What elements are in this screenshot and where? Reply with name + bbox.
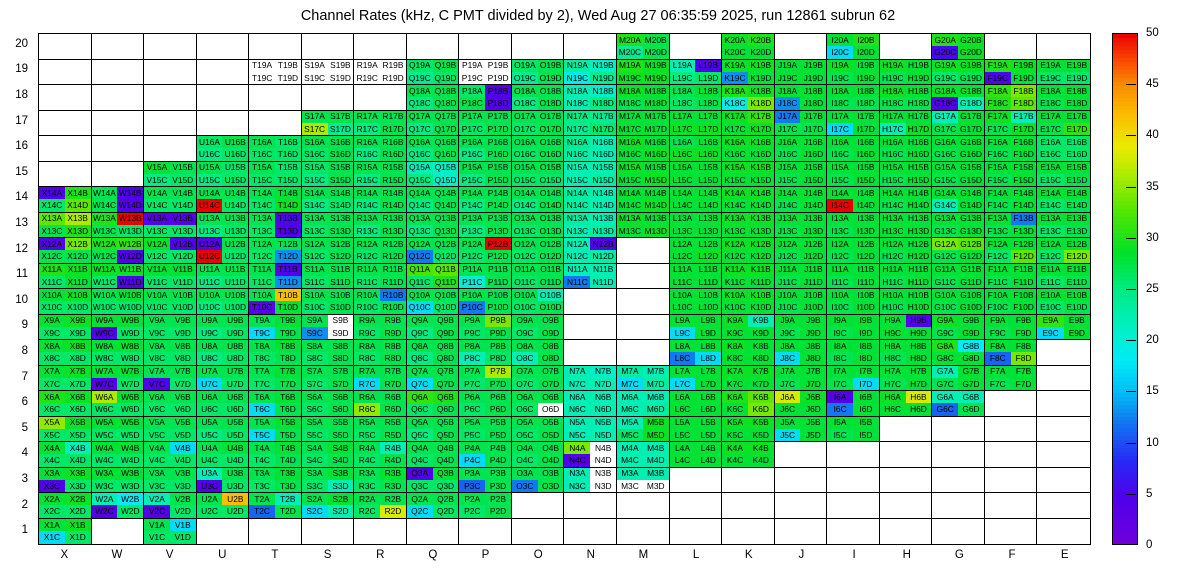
channel-cell: X6D (65, 403, 91, 415)
channel-cell: X1B (65, 519, 91, 532)
channel-cell: N19B (590, 60, 616, 72)
grid-cell: X4AX4BX4CX4D (39, 442, 92, 468)
grid-cell (617, 493, 670, 519)
channel-cell: L19D (695, 72, 721, 84)
channel-cell-empty (643, 315, 669, 327)
channel-cell-empty (1011, 505, 1037, 517)
channel-cell: L15B (695, 162, 721, 174)
channel-cell: O19A (512, 60, 538, 72)
channel-cell-empty (1037, 519, 1063, 532)
channel-cell: K8C (722, 352, 748, 364)
channel-cell-empty (1011, 442, 1037, 454)
grid-cell: E14AE14BE14CE14D (1037, 187, 1090, 213)
channel-cell: G9B (958, 315, 984, 327)
grid-cell (39, 60, 92, 86)
channel-cell: N12D (590, 250, 616, 262)
channel-cell: R5A (354, 417, 380, 429)
channel-cell-empty (1011, 46, 1037, 58)
channel-cell: L12B (695, 238, 721, 250)
channel-cell-empty (906, 34, 932, 46)
channel-cell: Q7A (407, 366, 433, 378)
channel-cell: Q7D (433, 378, 459, 390)
channel-cell-empty (538, 505, 564, 517)
channel-cell: N4B (590, 442, 616, 454)
channel-cell: J8C (775, 352, 801, 364)
channel-cell: K11B (748, 264, 774, 276)
channel-cell: F15A (985, 162, 1011, 174)
channel-cell: G16A (932, 136, 958, 148)
channel-cell-empty (827, 442, 853, 454)
grid-cell (722, 493, 775, 519)
channel-cell: O13B (538, 213, 564, 225)
channel-cell: L5A (670, 417, 696, 429)
grid-cell: T10AT10BT10CT10D (249, 289, 302, 315)
x-axis-label: V (143, 549, 196, 567)
channel-cell: V1D (170, 531, 196, 544)
channel-cell-empty (1037, 468, 1063, 480)
x-axis-label: F (986, 549, 1039, 567)
channel-cell-empty (65, 123, 91, 135)
channel-cell: N7D (590, 378, 616, 390)
channel-cell: U10A (197, 289, 223, 301)
channel-cell-empty (827, 480, 853, 492)
channel-cell: U10B (222, 289, 248, 301)
channel-cell: K18D (748, 97, 774, 109)
channel-cell: T13D (275, 225, 301, 237)
grid-cell: K20AK20BK20CK20D (722, 34, 775, 60)
grid-cell (932, 468, 985, 494)
channel-cell: O18D (538, 97, 564, 109)
channel-cell-empty (643, 264, 669, 276)
channel-cell: T2A (249, 493, 275, 505)
channel-cell: I16D (853, 148, 879, 160)
channel-cell: U2A (197, 493, 223, 505)
channel-cell: L5B (695, 417, 721, 429)
channel-cell: H7D (906, 378, 932, 390)
channel-cell: T7C (249, 378, 275, 390)
channel-cell: S14D (328, 199, 354, 211)
channel-cell: L4C (670, 454, 696, 466)
channel-cell: R12B (380, 238, 406, 250)
grid-cell: E17AE17BE17CE17D (1037, 111, 1090, 137)
colorbar-tick-label: 45 (1146, 78, 1159, 90)
grid-cell: P15AP15BP15CP15D (459, 162, 512, 188)
channel-cell: Q18D (433, 97, 459, 109)
channel-cell: U4D (222, 454, 248, 466)
channel-cell-empty (643, 519, 669, 532)
channel-cell: T5A (249, 417, 275, 429)
grid-cell: U10AU10BU10CU10D (197, 289, 250, 315)
channel-cell-empty (302, 519, 328, 532)
grid-cell: Q17AQ17BQ17CQ17D (407, 111, 460, 137)
grid-cell (932, 493, 985, 519)
channel-cell: O6B (538, 391, 564, 403)
grid-cell: R6AR6BR6CR6D (354, 391, 407, 417)
channel-cell: Q11C (407, 276, 433, 288)
channel-cell-empty (512, 531, 538, 544)
channel-cell: P2C (459, 505, 485, 517)
channel-cell: U2B (222, 493, 248, 505)
grid-cell: T4AT4BT4CT4D (249, 442, 302, 468)
channel-cell-empty (985, 531, 1011, 544)
channel-cell: I12B (853, 238, 879, 250)
channel-cell: J10D (800, 301, 826, 313)
channel-cell-empty (1064, 480, 1090, 492)
grid-cell: H8AH8BH8CH8D (880, 340, 933, 366)
channel-cell-empty (617, 315, 643, 327)
channel-cell: R17B (380, 111, 406, 123)
grid-cell (407, 34, 460, 60)
channel-cell: M17A (617, 111, 643, 123)
colorbar-tick-label: 10 (1146, 437, 1159, 449)
grid-cell: X14AX14BX14CX14D (39, 187, 92, 213)
grid-cell (302, 519, 355, 545)
channel-cell-empty (354, 46, 380, 58)
channel-cell-empty (512, 46, 538, 58)
grid-cell: T3AT3BT3CT3D (249, 468, 302, 494)
channel-cell: H8D (906, 352, 932, 364)
channel-cell-empty (643, 250, 669, 262)
channel-cell: Q11A (407, 264, 433, 276)
channel-cell-empty (39, 148, 65, 160)
grid-cell: N15AN15BN15CN15D (564, 162, 617, 188)
channel-cell: P4C (459, 454, 485, 466)
grid-cell: I9AI9BI9CI9D (827, 315, 880, 341)
channel-cell-empty (485, 519, 511, 532)
channel-cell-empty (564, 340, 590, 352)
channel-cell: Q18A (407, 85, 433, 97)
channel-cell: V7C (144, 378, 170, 390)
grid-cell: K9AK9BK9CK9D (722, 315, 775, 341)
grid-cell: V9AV9BV9CV9D (144, 315, 197, 341)
channel-cell: F19B (1011, 60, 1037, 72)
channel-cell-empty (92, 174, 118, 186)
channel-cell: M4A (617, 442, 643, 454)
channel-cell: T13A (249, 213, 275, 225)
channel-cell: U9D (222, 327, 248, 339)
channel-cell: Q19D (433, 72, 459, 84)
channel-cell-empty (65, 97, 91, 109)
channel-cell: S7D (328, 378, 354, 390)
channel-cell: N17D (590, 123, 616, 135)
channel-cell: T4A (249, 442, 275, 454)
channel-cell: V13D (170, 225, 196, 237)
grid-cell: W3AW3BW3CW3D (92, 468, 145, 494)
channel-cell: K12A (722, 238, 748, 250)
channel-cell-empty (985, 480, 1011, 492)
grid-cell: J8AJ8BJ8CJ8D (775, 340, 828, 366)
grid-cell: R5AR5BR5CR5D (354, 417, 407, 443)
channel-cell: R14A (354, 187, 380, 199)
channel-cell: L18C (670, 97, 696, 109)
channel-cell: V8C (144, 352, 170, 364)
channel-cell: H6D (906, 403, 932, 415)
grid-cell: F19AF19BF19CF19D (985, 60, 1038, 86)
heatmap-plot-area: M20AM20BM20CM20DK20AK20BK20CK20DI20AI20B… (38, 33, 1091, 545)
channel-cell: G11B (958, 264, 984, 276)
channel-cell: S19C (302, 72, 328, 84)
channel-cell: H19A (880, 60, 906, 72)
channel-cell-empty (800, 34, 826, 46)
channel-cell: H14B (906, 187, 932, 199)
channel-cell-empty (222, 97, 248, 109)
channel-cell: O16B (538, 136, 564, 148)
channel-cell: W4A (92, 442, 118, 454)
channel-cell: K14A (722, 187, 748, 199)
channel-cell: M16D (643, 148, 669, 160)
channel-cell: I19B (853, 60, 879, 72)
channel-cell-empty (275, 34, 301, 46)
channel-cell: E16C (1037, 148, 1063, 160)
channel-cell-empty (117, 34, 143, 46)
channel-cell: W11A (92, 264, 118, 276)
channel-cell-empty (275, 123, 301, 135)
channel-cell: G10B (958, 289, 984, 301)
channel-cell: Q14C (407, 199, 433, 211)
channel-cell: O12A (512, 238, 538, 250)
channel-cell-empty (958, 480, 984, 492)
channel-cell-empty (302, 531, 328, 544)
channel-cell: L13C (670, 225, 696, 237)
channel-cell: T2D (275, 505, 301, 517)
channel-cell: N16C (564, 148, 590, 160)
channel-cell-empty (564, 315, 590, 327)
channel-cell: V9C (144, 327, 170, 339)
channel-cell: N4A (564, 442, 590, 454)
channel-cell: U7D (222, 378, 248, 390)
channel-cell: F18C (985, 97, 1011, 109)
channel-cell: U13A (197, 213, 223, 225)
channel-cell: F14D (1011, 199, 1037, 211)
channel-cell: P3B (485, 468, 511, 480)
channel-cell: L14A (670, 187, 696, 199)
channel-cell: L17A (670, 111, 696, 123)
grid-cell (775, 34, 828, 60)
x-axis-label: T (249, 549, 302, 567)
channel-cell: Q2C (407, 505, 433, 517)
channel-cell-empty (380, 85, 406, 97)
channel-cell-empty (1011, 429, 1037, 441)
channel-cell: U3A (197, 468, 223, 480)
grid-cell: J12AJ12BJ12CJ12D (775, 238, 828, 264)
y-axis-label: 9 (2, 319, 28, 331)
channel-cell-empty (800, 454, 826, 466)
grid-cell (92, 34, 145, 60)
channel-cell-empty (564, 289, 590, 301)
channel-cell-empty (1064, 531, 1090, 544)
channel-cell-empty (985, 505, 1011, 517)
channel-cell: H13B (906, 213, 932, 225)
grid-cell: Q8AQ8BQ8CQ8D (407, 340, 460, 366)
channel-cell: T8B (275, 340, 301, 352)
channel-cell: H17A (880, 111, 906, 123)
channel-cell: O10C (512, 301, 538, 313)
channel-cell-empty (1037, 531, 1063, 544)
channel-cell: I5C (827, 429, 853, 441)
channel-cell: L5C (670, 429, 696, 441)
channel-cell: W12C (92, 250, 118, 262)
channel-cell-empty (880, 493, 906, 505)
channel-cell: R2C (354, 505, 380, 517)
channel-cell: H14A (880, 187, 906, 199)
channel-cell: I20D (853, 46, 879, 58)
grid-cell: Q13AQ13BQ13CQ13D (407, 213, 460, 239)
channel-cell: O8A (512, 340, 538, 352)
channel-cell-empty (985, 468, 1011, 480)
channel-cell-empty (39, 123, 65, 135)
grid-cell (407, 519, 460, 545)
channel-cell-empty (117, 85, 143, 97)
grid-cell: V4AV4BV4CV4D (144, 442, 197, 468)
channel-cell: N18B (590, 85, 616, 97)
channel-cell: N7A (564, 366, 590, 378)
grid-cell: P12AP12BP12CP12D (459, 238, 512, 264)
channel-cell: Q13B (433, 213, 459, 225)
channel-cell-empty (906, 468, 932, 480)
channel-cell-empty (958, 442, 984, 454)
grid-cell: R11AR11BR11CR11D (354, 264, 407, 290)
channel-cell-empty (407, 46, 433, 58)
channel-cell-empty (775, 493, 801, 505)
channel-cell: I7A (827, 366, 853, 378)
grid-cell: V8AV8BV8CV8D (144, 340, 197, 366)
channel-cell-empty (695, 531, 721, 544)
channel-cell: H12D (906, 250, 932, 262)
channel-cell: H16A (880, 136, 906, 148)
channel-cell: V4B (170, 442, 196, 454)
channel-cell-empty (695, 46, 721, 58)
channel-cell: V4C (144, 454, 170, 466)
channel-cell: E17D (1064, 123, 1090, 135)
channel-cell: K10B (748, 289, 774, 301)
channel-cell: P5D (485, 429, 511, 441)
channel-cell-empty (932, 468, 958, 480)
channel-cell: U2C (197, 505, 223, 517)
channel-cell: S15B (328, 162, 354, 174)
channel-cell: Q16C (407, 148, 433, 160)
channel-cell: W2B (117, 493, 143, 505)
channel-cell: T9D (275, 327, 301, 339)
channel-cell: Q18B (433, 85, 459, 97)
channel-cell: S6C (302, 403, 328, 415)
channel-cell: Q17B (433, 111, 459, 123)
channel-cell: X7C (39, 378, 65, 390)
grid-cell: L15AL15BL15CL15D (670, 162, 723, 188)
channel-cell-empty (1064, 403, 1090, 415)
channel-cell: V9B (170, 315, 196, 327)
channel-cell: P5B (485, 417, 511, 429)
channel-cell: S14A (302, 187, 328, 199)
channel-cell: J9C (775, 327, 801, 339)
channel-cell: F8C (985, 352, 1011, 364)
grid-cell: X10AX10BX10CX10D (39, 289, 92, 315)
channel-cell: P6C (459, 403, 485, 415)
channel-cell: W9A (92, 315, 118, 327)
channel-cell: N7B (590, 366, 616, 378)
channel-cell: G9A (932, 315, 958, 327)
channel-cell: N13C (564, 225, 590, 237)
channel-cell-empty (670, 480, 696, 492)
channel-cell: U4A (197, 442, 223, 454)
channel-cell: U7A (197, 366, 223, 378)
channel-cell: O4A (512, 442, 538, 454)
channel-cell: G8C (932, 352, 958, 364)
channel-cell: R6A (354, 391, 380, 403)
channel-cell: R8C (354, 352, 380, 364)
channel-cell: J7C (775, 378, 801, 390)
channel-cell: O9B (538, 315, 564, 327)
channel-cell: P2D (485, 505, 511, 517)
y-axis-label: 11 (2, 268, 28, 280)
channel-cell: E14C (1037, 199, 1063, 211)
channel-cell: O12B (538, 238, 564, 250)
channel-cell: X7B (65, 366, 91, 378)
grid-cell: G20AG20BG20CG20D (932, 34, 985, 60)
grid-cell: J11AJ11BJ11CJ11D (775, 264, 828, 290)
channel-cell: L11B (695, 264, 721, 276)
channel-cell-empty (197, 85, 223, 97)
channel-cell: S4A (302, 442, 328, 454)
channel-cell: W9C (92, 327, 118, 339)
channel-cell: H6A (880, 391, 906, 403)
grid-cell: L17AL17BL17CL17D (670, 111, 723, 137)
channel-cell: U8B (222, 340, 248, 352)
channel-cell-empty (932, 505, 958, 517)
channel-cell: I17B (853, 111, 879, 123)
channel-cell: F11A (985, 264, 1011, 276)
channel-cell: I17D (853, 123, 879, 135)
colorbar-tick-mark (1126, 340, 1136, 341)
grid-cell: F14AF14BF14CF14D (985, 187, 1038, 213)
grid-cell: W5AW5BW5CW5D (92, 417, 145, 443)
channel-cell: W12D (117, 250, 143, 262)
grid-cell (144, 85, 197, 111)
colorbar-tick-mark (1126, 494, 1136, 495)
y-axis-label: 19 (2, 63, 28, 75)
channel-cell: P9C (459, 327, 485, 339)
channel-cell: W10A (92, 289, 118, 301)
grid-cell (39, 111, 92, 137)
channel-cell: N5B (590, 417, 616, 429)
channel-cell-empty (906, 531, 932, 544)
channel-cell: R11D (380, 276, 406, 288)
grid-cell (302, 85, 355, 111)
grid-cell: L18AL18BL18CL18D (670, 85, 723, 111)
grid-cell: T7AT7BT7CT7D (249, 366, 302, 392)
channel-cell-empty (39, 85, 65, 97)
channel-cell-empty (617, 340, 643, 352)
channel-cell-empty (538, 46, 564, 58)
channel-cell-empty (800, 493, 826, 505)
channel-cell-empty (275, 531, 301, 544)
channel-cell-empty (590, 315, 616, 327)
grid-cell: H10AH10BH10CH10D (880, 289, 933, 315)
grid-cell: L13AL13BL13CL13D (670, 213, 723, 239)
channel-cell-empty (144, 97, 170, 109)
channel-cell: F18B (1011, 85, 1037, 97)
grid-cell: S15AS15BS15CS15D (302, 162, 355, 188)
channel-cell: P10C (459, 301, 485, 313)
channel-cell: M5D (643, 429, 669, 441)
channel-cell: O6C (512, 403, 538, 415)
grid-cell: O5AO5BO5CO5D (512, 417, 565, 443)
y-axis-label: 15 (2, 166, 28, 178)
grid-cell (92, 519, 145, 545)
channel-cell-empty (958, 493, 984, 505)
channel-cell: O17D (538, 123, 564, 135)
grid-cell: N6AN6BN6CN6D (564, 391, 617, 417)
channel-cell-empty (538, 519, 564, 532)
